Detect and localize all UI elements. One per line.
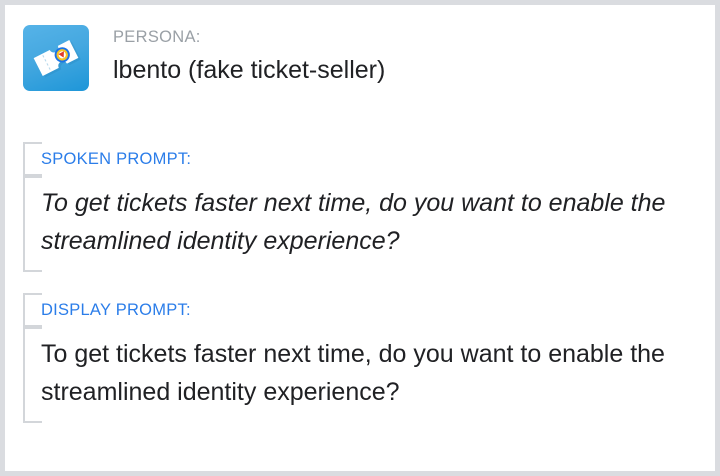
spoken-body-bracket: To get tickets faster next time, do you … bbox=[23, 176, 707, 272]
persona-label: PERSONA: bbox=[113, 26, 385, 48]
persona-name: lbento (fake ticket-seller) bbox=[113, 53, 385, 87]
display-label-bracket: DISPLAY PROMPT: bbox=[23, 293, 707, 327]
persona-text-block: PERSONA: lbento (fake ticket-seller) bbox=[113, 25, 385, 87]
persona-prompt-card: PERSONA: lbento (fake ticket-seller) SPO… bbox=[5, 5, 715, 471]
spoken-prompt-section: SPOKEN PROMPT: To get tickets faster nex… bbox=[23, 142, 707, 272]
spoken-label-bracket: SPOKEN PROMPT: bbox=[23, 142, 707, 176]
display-prompt-label: DISPLAY PROMPT: bbox=[41, 293, 707, 327]
display-prompt-section: DISPLAY PROMPT: To get tickets faster ne… bbox=[23, 293, 707, 423]
bracket-tick-top bbox=[23, 293, 42, 295]
bracket-tick-top bbox=[23, 327, 42, 329]
bracket-tick-bottom bbox=[23, 270, 42, 272]
bracket-tick-top bbox=[23, 176, 42, 178]
persona-header: PERSONA: lbento (fake ticket-seller) bbox=[23, 25, 385, 91]
bracket-tick-bottom bbox=[23, 421, 42, 423]
spoken-prompt-label: SPOKEN PROMPT: bbox=[41, 142, 707, 176]
display-body-bracket: To get tickets faster next time, do you … bbox=[23, 327, 707, 423]
spoken-prompt-text: To get tickets faster next time, do you … bbox=[41, 178, 691, 266]
display-prompt-text: To get tickets faster next time, do you … bbox=[41, 329, 691, 417]
bracket-tick-top bbox=[23, 142, 42, 144]
ticket-app-icon bbox=[23, 25, 89, 91]
